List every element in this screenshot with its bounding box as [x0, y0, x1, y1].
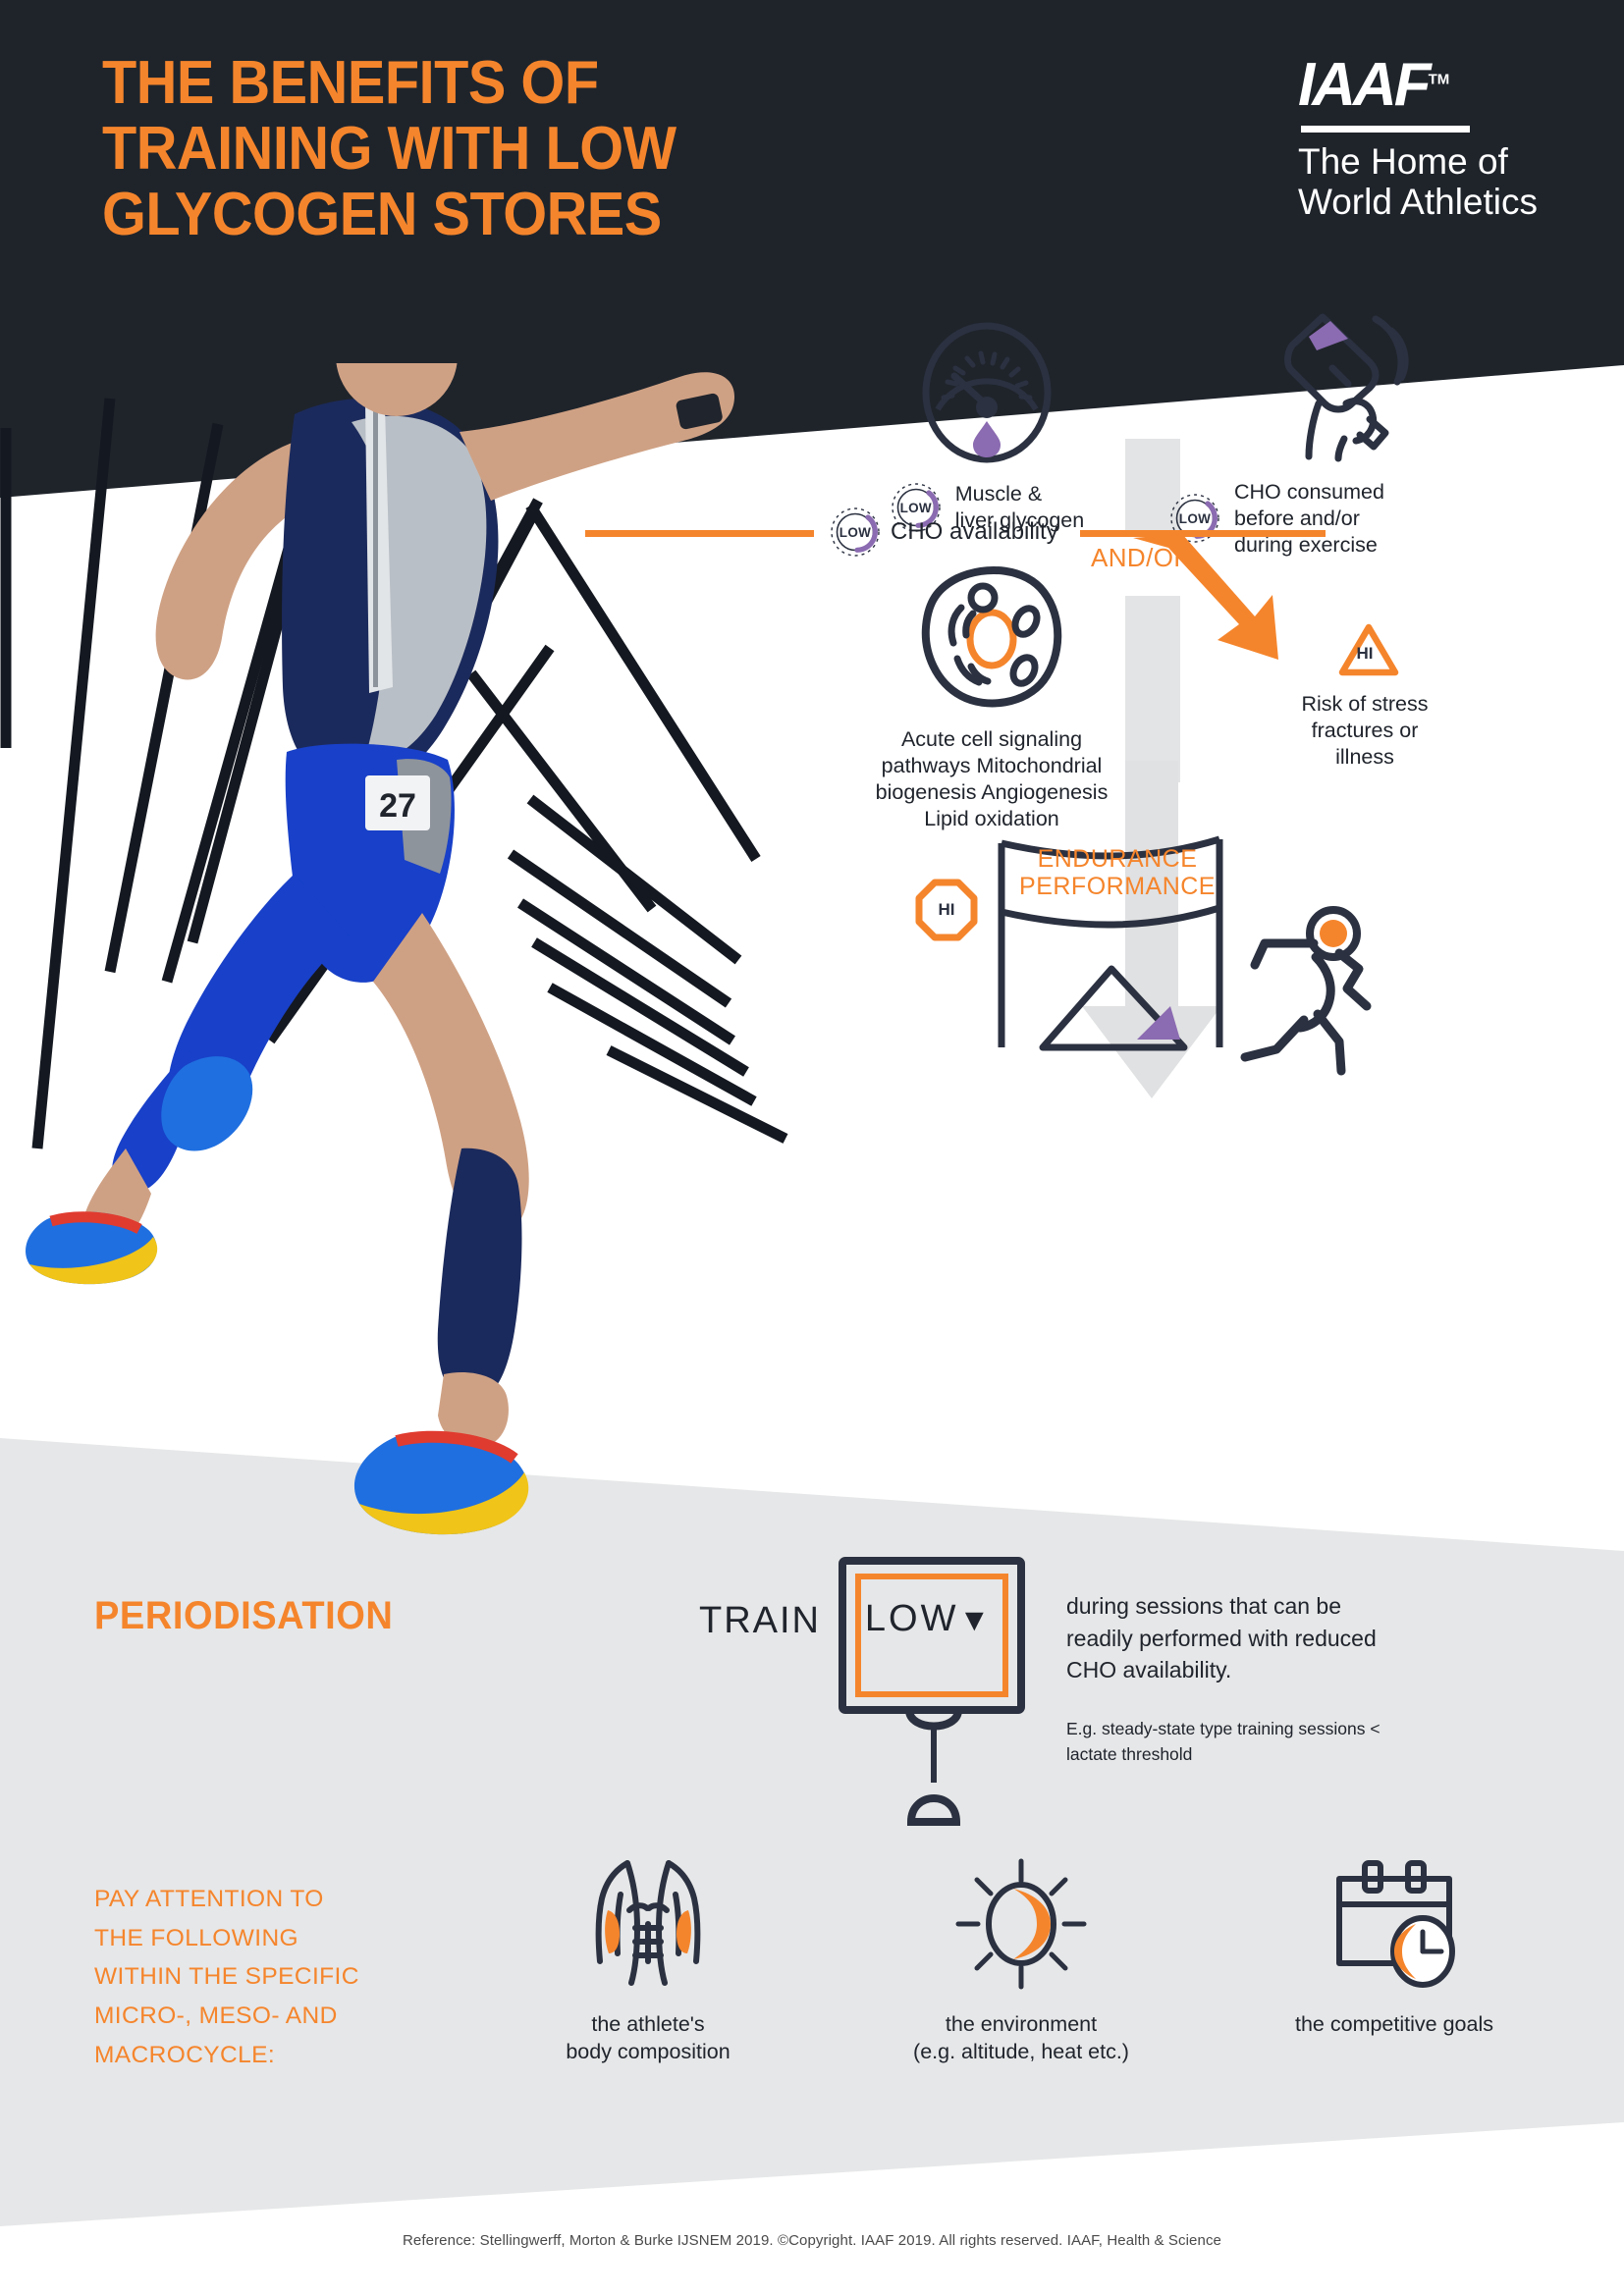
hi-warning-badge: HI: [1337, 621, 1392, 676]
endurance-line-2: PERFORMANCE: [1019, 873, 1216, 900]
logo-tagline: The Home of World Athletics: [1298, 141, 1538, 223]
flow-diagram: AND/OR: [844, 447, 1571, 1536]
cho-availability-label: CHO availability: [891, 517, 1058, 547]
footer-reference: Reference: Stellingwerff, Morton & Burke…: [0, 2232, 1624, 2249]
svg-text:27: 27: [379, 787, 416, 825]
iaaf-wordmark: IAAFTM: [1298, 55, 1449, 116]
hi-octagon-badge: HI: [915, 879, 978, 941]
infographic-poster: THE BENEFITS OF TRAINING WITH LOW GLYCOG…: [0, 0, 1624, 2296]
trademark-icon: TM: [1429, 71, 1450, 87]
endurance-banner-text: ENDURANCE PERFORMANCE: [1019, 845, 1216, 900]
factor-environment-caption: the environment (e.g. altitude, heat etc…: [864, 2011, 1178, 2066]
periodisation-heading: PERIODISATION: [94, 1594, 393, 1638]
train-label: TRAIN: [699, 1600, 821, 1642]
input-glycogen: LOW Muscle & liver glycogen: [825, 319, 1149, 534]
train-low-sign[interactable]: LOW▼: [837, 1555, 1033, 1849]
low-badge-label: LOW: [829, 506, 882, 559]
periodisation-body: during sessions that can be readily perf…: [1066, 1590, 1390, 1686]
logo-divider: [1301, 126, 1470, 133]
gel-sachet-hand-icon: [1275, 309, 1452, 466]
runner-finish-icon: [1223, 904, 1380, 1081]
iaaf-wordmark-text: IAAF: [1298, 51, 1429, 119]
outcome-risk-caption: Risk of stress fractures or illness: [1237, 691, 1492, 771]
factor-goals-caption: the competitive goals: [1237, 2011, 1551, 2039]
factor-environment: the environment (e.g. altitude, heat etc…: [864, 1855, 1178, 2110]
calendar-clock-icon: [1326, 1855, 1463, 1993]
cell-mitochondria-icon: [918, 562, 1065, 710]
factor-competitive-goals: the competitive goals: [1237, 1855, 1551, 2110]
iaaf-logo: IAAFTM The Home of World Athletics: [1298, 55, 1538, 223]
sign-value-row: LOW▼: [837, 1598, 1021, 1640]
hi-badge-label: HI: [915, 879, 978, 941]
factor-body-composition-caption: the athlete's body composition: [491, 2011, 805, 2066]
endurance-performance-block: HI ENDURANCE PERFORMANCE: [992, 822, 1542, 1116]
outcome-injury-risk: HI Risk of stress fractures or illness: [1237, 621, 1492, 771]
periodisation-example: E.g. steady-state type training sessions…: [1066, 1716, 1380, 1768]
sign-value: LOW: [865, 1598, 959, 1639]
fuel-gauge-icon: [908, 319, 1065, 466]
connector-line-left: [585, 530, 814, 537]
page-title: THE BENEFITS OF TRAINING WITH LOW GLYCOG…: [102, 51, 677, 248]
chevron-down-icon: ▼: [958, 1602, 993, 1637]
factors-row: the athlete's body composition the envir…: [491, 1855, 1551, 2110]
low-badge: LOW: [829, 506, 882, 559]
torso-body-composition-icon: [584, 1855, 712, 1993]
factor-body-composition: the athlete's body composition: [491, 1855, 805, 2110]
sun-moon-environment-icon: [952, 1855, 1090, 1993]
attention-heading: PAY ATTENTION TO THE FOLLOWING WITHIN TH…: [94, 1880, 418, 2074]
endurance-line-1: ENDURANCE: [1019, 845, 1216, 873]
cho-availability-row: LOW CHO availability: [585, 506, 1567, 559]
hi-badge-label: HI: [1337, 631, 1392, 676]
